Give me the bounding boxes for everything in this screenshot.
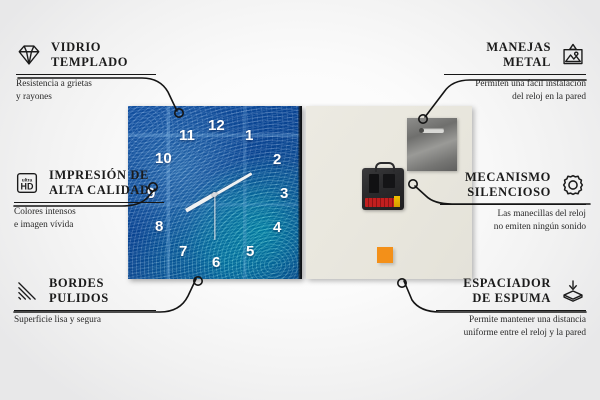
mechanism-slot-right	[383, 174, 395, 188]
clock-numeral-2: 2	[273, 152, 281, 167]
foam-spacer-icon	[560, 278, 586, 304]
callout-header: BORDES PULIDOS	[14, 276, 156, 306]
callout-title-line1: MANEJAS	[486, 40, 551, 55]
callout-desc-line2: y rayones	[16, 91, 156, 104]
callout-title-line2: TEMPLADO	[51, 55, 128, 70]
callout-description: Superficie lisa y segura	[14, 314, 156, 327]
connector-marker-espaciador	[398, 279, 406, 287]
hanger-hole	[419, 128, 424, 133]
clock-numeral-12: 12	[208, 118, 225, 133]
callout-header: ESPACIADOR DE ESPUMA	[436, 276, 586, 306]
metal-hanger-plate	[407, 118, 457, 171]
clock-numeral-8: 8	[155, 219, 163, 234]
callout-divider	[14, 310, 156, 311]
callout-manejas-metal[interactable]: MANEJAS METAL Permiten una fácil instala…	[444, 40, 586, 104]
infographic-canvas: 12 1 2 3 4 5 6 7 8 9 10 11	[0, 0, 600, 400]
callout-desc-line1: Superficie lisa y segura	[14, 314, 156, 327]
clock-face: 12 1 2 3 4 5 6 7 8 9 10 11	[128, 106, 302, 279]
picture-frame-icon	[560, 42, 586, 68]
callout-bordes-pulidos[interactable]: BORDES PULIDOS Superficie lisa y segura	[14, 276, 156, 327]
battery-terminal	[394, 196, 400, 207]
clock-numeral-1: 1	[245, 128, 253, 143]
callout-title-line2: SILENCIOSO	[465, 185, 551, 200]
diamond-icon	[16, 42, 42, 68]
callout-title-line2: METAL	[486, 55, 551, 70]
svg-text:HD: HD	[21, 181, 34, 191]
callout-divider	[440, 204, 586, 205]
callout-desc-line2: no emiten ningún sonido	[440, 221, 586, 234]
clock-numeral-3: 3	[280, 186, 288, 201]
callout-title: ESPACIADOR DE ESPUMA	[463, 276, 551, 306]
callout-desc-line1: Resistencia a grietas	[16, 78, 156, 91]
callout-title-line1: ESPACIADOR	[463, 276, 551, 291]
callout-espaciador-espuma[interactable]: ESPACIADOR DE ESPUMA Permite mantener un…	[436, 276, 586, 340]
callout-title-line2: PULIDOS	[49, 291, 109, 306]
foam-spacer-pad	[377, 247, 393, 263]
callout-title-line1: MECANISMO	[465, 170, 551, 185]
aa-battery	[365, 198, 397, 207]
callout-title-line1: VIDRIO	[51, 40, 128, 55]
callout-vidrio-templado[interactable]: VIDRIO TEMPLADO Resistencia a grietas y …	[16, 40, 156, 104]
callout-title-line1: BORDES	[49, 276, 109, 291]
clock-numeral-5: 5	[246, 244, 254, 259]
callout-desc-line2: uniforme entre el reloj y la pared	[436, 327, 586, 340]
clock-numeral-11: 11	[179, 128, 195, 143]
callout-header: VIDRIO TEMPLADO	[16, 40, 156, 70]
callout-description: Resistencia a grietas y rayones	[16, 78, 156, 104]
clock-numeral-6: 6	[212, 255, 220, 270]
clock-numeral-10: 10	[155, 151, 172, 166]
callout-description: Las manecillas del reloj no emiten ningú…	[440, 208, 586, 234]
clock-second-hand	[214, 195, 215, 240]
clock-numeral-7: 7	[179, 244, 187, 259]
callout-desc-line1: Permite mantener una distancia	[436, 314, 586, 327]
callout-desc-line2: del reloj en la pared	[444, 91, 586, 104]
callout-description: Permite mantener una distancia uniforme …	[436, 314, 586, 340]
callout-title: MECANISMO SILENCIOSO	[465, 170, 551, 200]
clock-numeral-9: 9	[147, 186, 155, 201]
product-photo: 12 1 2 3 4 5 6 7 8 9 10 11	[128, 106, 472, 279]
callout-description: Permiten una fácil instalación del reloj…	[444, 78, 586, 104]
callout-divider	[444, 74, 586, 75]
callout-header: MECANISMO SILENCIOSO	[440, 170, 586, 200]
callout-desc-line1: Permiten una fácil instalación	[444, 78, 586, 91]
callout-desc-line1: Las manecillas del reloj	[440, 208, 586, 221]
callout-title: MANEJAS METAL	[486, 40, 551, 70]
callout-title: VIDRIO TEMPLADO	[51, 40, 128, 70]
mechanism-hanging-loop	[375, 162, 395, 172]
callout-header: MANEJAS METAL	[444, 40, 586, 70]
clock-glass-edge	[298, 106, 302, 279]
mechanism-slot-left	[369, 174, 379, 193]
polished-edges-icon	[14, 278, 40, 304]
callout-title: BORDES PULIDOS	[49, 276, 109, 306]
ultra-hd-icon: ultra HD	[14, 170, 40, 196]
callout-divider	[436, 310, 586, 311]
callout-mecanismo-silencioso[interactable]: MECANISMO SILENCIOSO Las manecillas del …	[440, 170, 586, 234]
clock-numeral-4: 4	[273, 220, 281, 235]
clock-hand-hub	[212, 192, 217, 197]
callout-title-line2: DE ESPUMA	[463, 291, 551, 306]
quartz-mechanism	[362, 168, 404, 210]
gear-icon	[560, 172, 586, 198]
callout-divider	[16, 74, 156, 75]
